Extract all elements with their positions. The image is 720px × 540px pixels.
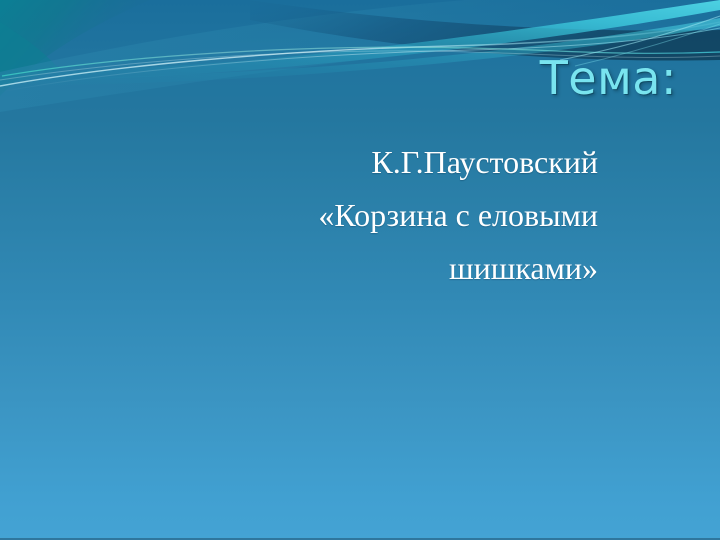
body-line-author: К.Г.Паустовский [90,136,598,189]
body-line-title-part-1: «Корзина с еловыми [90,189,598,242]
slide-body: К.Г.Паустовский «Корзина с еловыми шишка… [90,136,598,295]
presentation-slide: Тема: К.Г.Паустовский «Корзина с еловыми… [0,0,720,540]
slide-title: Тема: [40,54,677,102]
body-line-title-part-2: шишками» [90,242,598,295]
